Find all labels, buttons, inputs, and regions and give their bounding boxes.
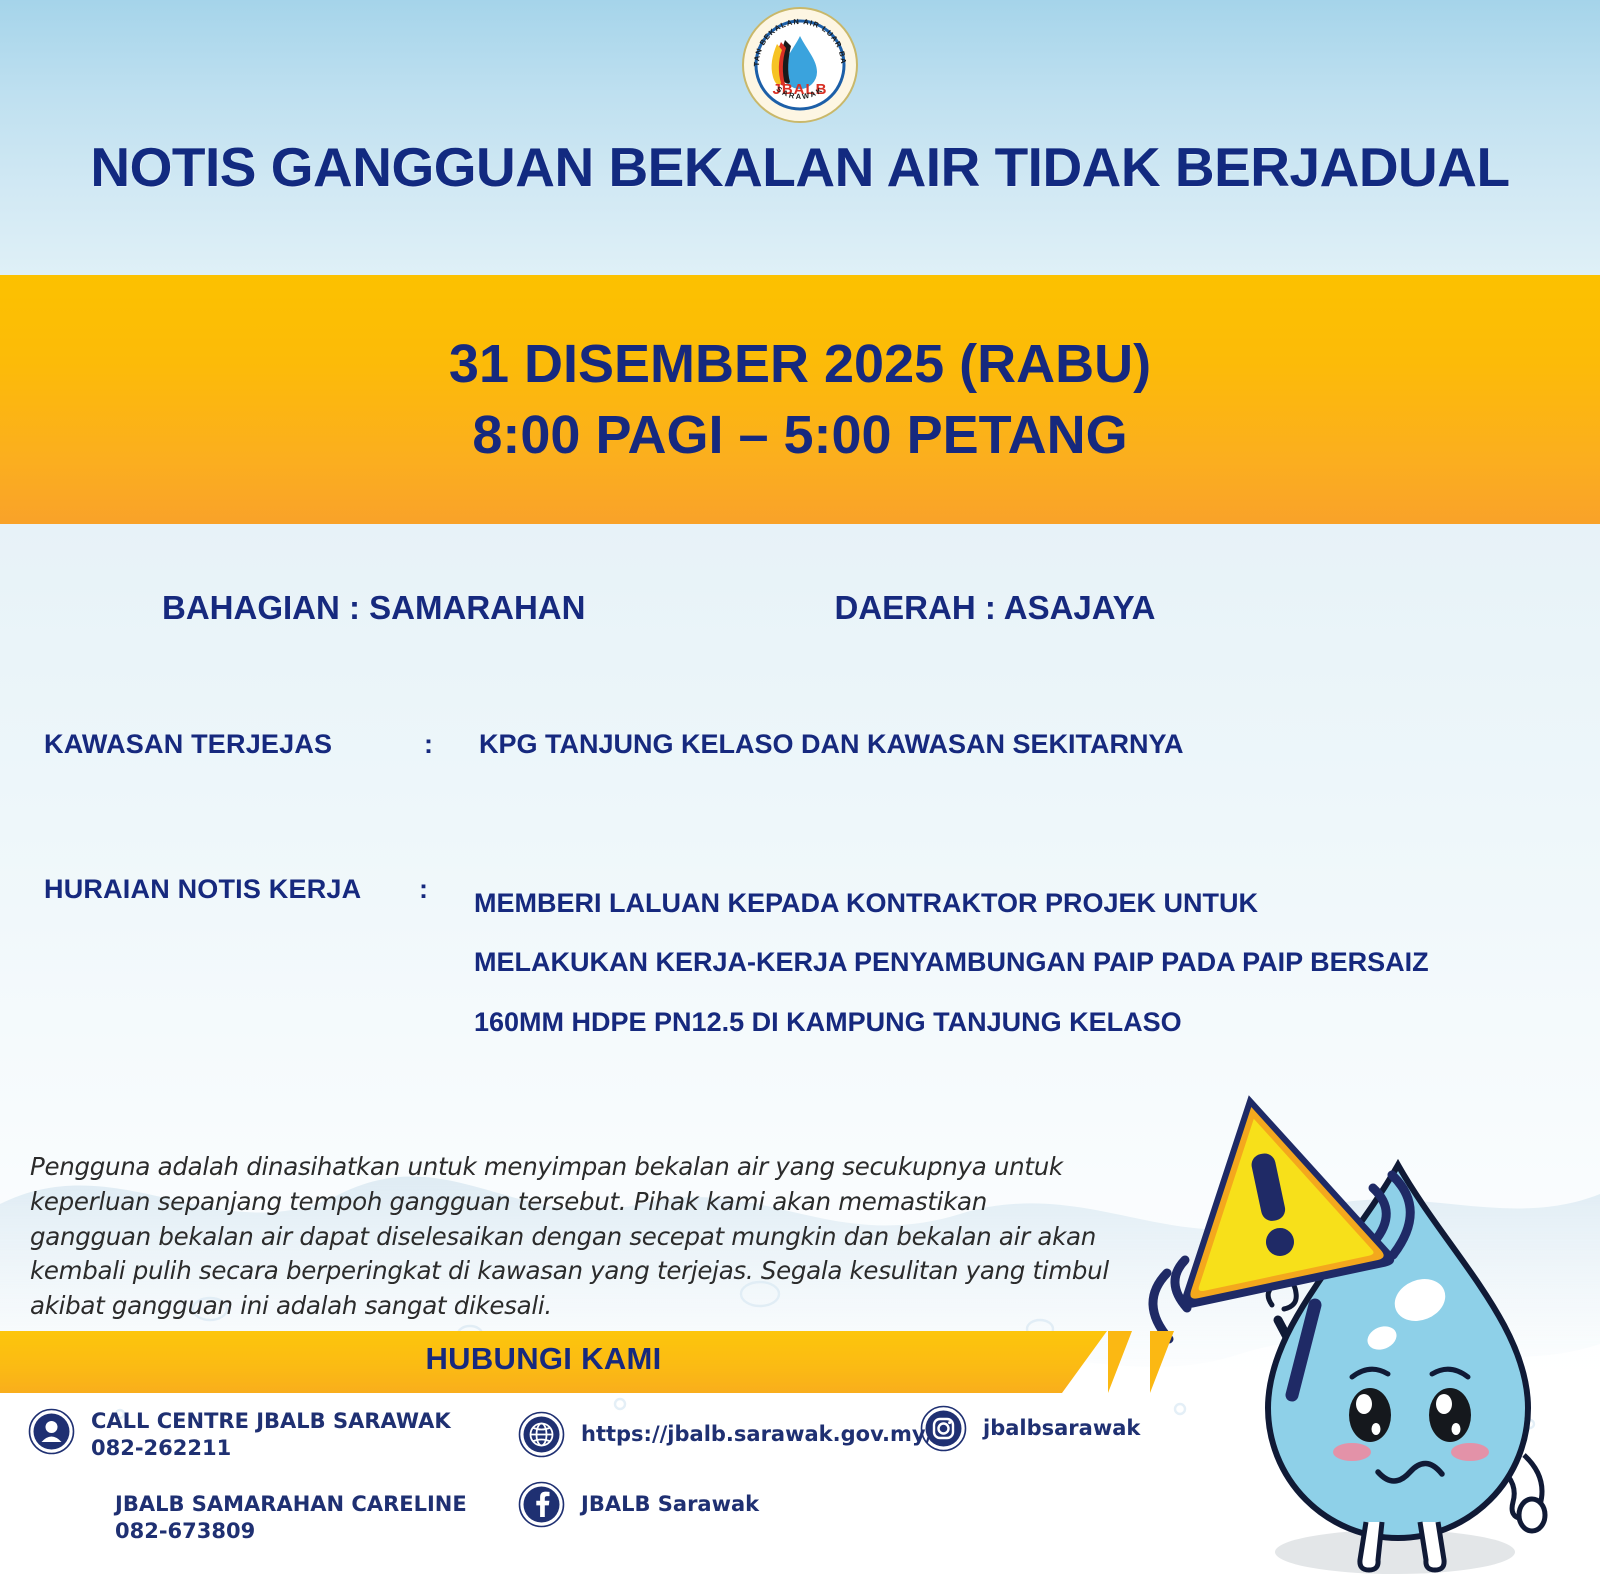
call-centre-phone: 082-262211 (91, 1434, 451, 1462)
bahagian-label: BAHAGIAN : SAMARAHAN (162, 589, 585, 627)
careline-phone: 082-673809 (115, 1517, 467, 1545)
contact-instagram[interactable]: jbalbsarawak (920, 1405, 1140, 1452)
instagram-handle: jbalbsarawak (983, 1405, 1140, 1452)
facebook-handle: JBALB Sarawak (581, 1481, 759, 1528)
contact-call-centre[interactable]: CALL CENTRE JBALB SARAWAK 082-262211 (28, 1408, 451, 1463)
careline-text: JBALB SAMARAHAN CARELINE 082-673809 (115, 1491, 467, 1546)
contact-website[interactable]: https://jbalb.sarawak.gov.my/ (518, 1411, 933, 1458)
contacts-section: CALL CENTRE JBALB SARAWAK 082-262211 JBA… (0, 1393, 1600, 1593)
poster-header: JBALB JABATAN BEKALAN AIR LUAR BANDAR SA… (0, 0, 1600, 275)
contact-careline[interactable]: JBALB SAMARAHAN CARELINE 082-673809 (115, 1491, 467, 1546)
careline-name: JBALB SAMARAHAN CARELINE (115, 1491, 467, 1517)
instagram-text: jbalbsarawak (983, 1405, 1140, 1452)
call-centre-name: CALL CENTRE JBALB SARAWAK (91, 1408, 451, 1434)
call-centre-text: CALL CENTRE JBALB SARAWAK 082-262211 (91, 1408, 451, 1463)
contact-facebook[interactable]: JBALB Sarawak (518, 1481, 759, 1528)
huraian-line-1: MEMBERI LALUAN KEPADA KONTRAKTOR PROJEK … (474, 874, 1504, 933)
website-text: https://jbalb.sarawak.gov.my/ (581, 1411, 933, 1458)
huraian-notis-kerja-field: HURAIAN NOTIS KERJA : MEMBERI LALUAN KEP… (44, 874, 1524, 1052)
facebook-icon (518, 1481, 565, 1528)
advisory-note: Pengguna adalah dinasihatkan untuk menyi… (30, 1150, 1110, 1324)
outage-time: 8:00 PAGI – 5:00 PETANG (472, 404, 1127, 466)
outage-date: 31 DISEMBER 2025 (RABU) (449, 333, 1151, 395)
huraian-line-2: MELAKUKAN KERJA-KERJA PENYAMBUNGAN PAIP … (474, 933, 1504, 992)
globe-icon (518, 1411, 565, 1458)
person-icon (28, 1408, 75, 1455)
date-time-banner: 31 DISEMBER 2025 (RABU) 8:00 PAGI – 5:00… (0, 275, 1600, 524)
instagram-icon (920, 1405, 967, 1452)
facebook-text: JBALB Sarawak (581, 1481, 759, 1528)
region-row: BAHAGIAN : SAMARAHAN DAERAH : ASAJAYA (0, 589, 1600, 627)
huraian-colon: : (419, 874, 474, 1052)
huraian-notis-kerja-label: HURAIAN NOTIS KERJA (44, 874, 419, 1052)
notice-poster: JBALB JABATAN BEKALAN AIR LUAR BANDAR SA… (0, 0, 1600, 1593)
kawasan-terjejas-value: KPG TANJUNG KELASO DAN KAWASAN SEKITARNY… (479, 729, 1184, 760)
daerah-label: DAERAH : ASAJAYA (834, 589, 1155, 627)
website-url: https://jbalb.sarawak.gov.my/ (581, 1411, 933, 1458)
kawasan-terjejas-label: KAWASAN TERJEJAS (44, 729, 424, 760)
huraian-line-3: 160MM HDPE PN12.5 DI KAMPUNG TANJUNG KEL… (474, 993, 1504, 1052)
kawasan-terjejas-field: KAWASAN TERJEJAS : KPG TANJUNG KELASO DA… (44, 729, 1184, 760)
page-title: NOTIS GANGGUAN BEKALAN AIR TIDAK BERJADU… (0, 135, 1600, 199)
kawasan-colon: : (424, 729, 479, 760)
jbalb-sarawak-logo: JBALB JABATAN BEKALAN AIR LUAR BANDAR SA… (741, 6, 859, 124)
huraian-notis-kerja-value: MEMBERI LALUAN KEPADA KONTRAKTOR PROJEK … (474, 874, 1504, 1052)
contact-banner-title: HUBUNGI KAMI (0, 1341, 1107, 1377)
